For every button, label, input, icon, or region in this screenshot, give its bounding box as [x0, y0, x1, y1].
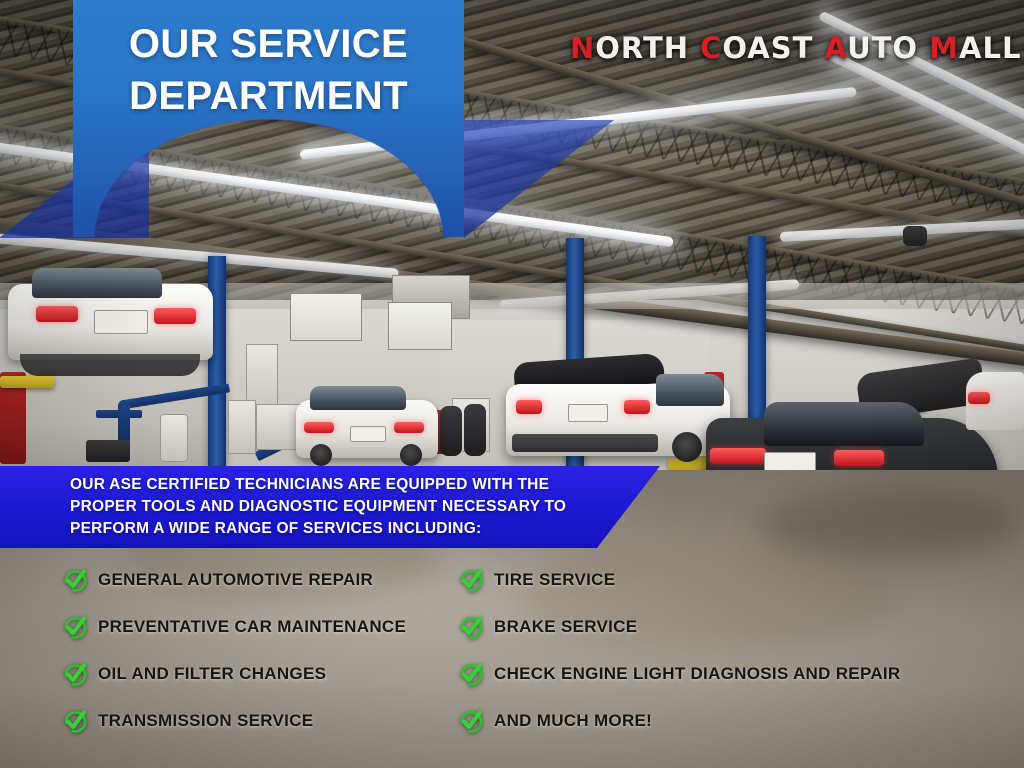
tire-stack	[440, 406, 462, 456]
check-icon	[62, 708, 88, 734]
banner-line2: PROPER TOOLS AND DIAGNOSTIC EQUIPMENT NE…	[70, 496, 630, 518]
service-label: AND MUCH MORE!	[494, 711, 652, 731]
rear-window	[32, 268, 162, 298]
tail-light	[154, 308, 196, 324]
tail-light	[710, 448, 766, 464]
vehicle-white-sedan-lifted	[8, 262, 218, 372]
list-item[interactable]: TRANSMISSION SERVICE	[62, 697, 462, 744]
tail-light	[624, 400, 650, 414]
page-title: OUR SERVICE DEPARTMENT	[73, 18, 464, 122]
service-label: BRAKE SERVICE	[494, 617, 637, 637]
list-item[interactable]: OIL AND FILTER CHANGES	[62, 650, 462, 697]
list-item[interactable]: PREVENTATIVE CAR MAINTENANCE	[62, 603, 462, 650]
check-icon	[458, 614, 484, 640]
service-list-left: GENERAL AUTOMOTIVE REPAIR PREVENTATIVE C…	[62, 556, 462, 744]
check-icon	[458, 661, 484, 687]
rear-window	[310, 386, 406, 410]
oil-drum	[160, 414, 188, 462]
tire	[310, 444, 332, 466]
vehicle-white-sedan-center	[296, 382, 442, 464]
vehicle-white-suv	[506, 358, 734, 470]
list-item[interactable]: CHECK ENGINE LIGHT DIAGNOSIS AND REPAIR	[458, 650, 998, 697]
check-icon	[458, 708, 484, 734]
service-label: CHECK ENGINE LIGHT DIAGNOSIS AND REPAIR	[494, 664, 901, 684]
tire	[672, 432, 702, 462]
tail-light	[394, 422, 424, 433]
page-title-line1: OUR SERVICE	[73, 18, 464, 70]
tail-light	[36, 306, 78, 322]
rear-bumper	[512, 434, 658, 452]
tire-stack	[464, 404, 486, 456]
tail-light	[834, 450, 884, 466]
ceiling-sign	[290, 293, 362, 341]
check-icon	[62, 567, 88, 593]
tail-light	[516, 400, 542, 414]
check-icon	[62, 661, 88, 687]
list-item[interactable]: TIRE SERVICE	[458, 556, 998, 603]
tool-cabinet	[228, 400, 256, 454]
service-label: GENERAL AUTOMOTIVE REPAIR	[98, 570, 373, 590]
check-icon	[458, 567, 484, 593]
tail-light	[968, 392, 990, 404]
brand-logo[interactable]: NORTH COAST AUTO MALL STOP OVER PAYING	[570, 28, 1024, 68]
brand-logo-text: NORTH COAST AUTO MALL	[570, 31, 1021, 65]
service-label: OIL AND FILTER CHANGES	[98, 664, 326, 684]
lift-ramp	[0, 376, 54, 388]
ceiling-sign	[388, 302, 452, 350]
under-body-shadow	[20, 354, 200, 376]
tire	[400, 444, 422, 466]
service-label: TIRE SERVICE	[494, 570, 615, 590]
page-title-line2: DEPARTMENT	[73, 70, 464, 122]
list-item[interactable]: AND MUCH MORE!	[458, 697, 998, 744]
license-plate	[568, 404, 608, 422]
rear-window	[764, 402, 924, 446]
license-plate	[94, 310, 148, 334]
service-label: PREVENTATIVE CAR MAINTENANCE	[98, 617, 406, 637]
list-item[interactable]: GENERAL AUTOMOTIVE REPAIR	[62, 556, 462, 603]
service-list-right: TIRE SERVICE BRAKE SERVICE CHECK ENGINE …	[458, 556, 998, 744]
banner-line3: PERFORM A WIDE RANGE OF SERVICES INCLUDI…	[70, 518, 630, 540]
description-banner-text: OUR ASE CERTIFIED TECHNICIANS ARE EQUIPP…	[70, 474, 630, 540]
header-panel: OUR SERVICE DEPARTMENT	[73, 0, 464, 237]
check-icon	[62, 614, 88, 640]
floor-jack	[86, 440, 130, 462]
list-item[interactable]: BRAKE SERVICE	[458, 603, 998, 650]
tail-light	[304, 422, 334, 433]
license-plate	[350, 426, 386, 442]
wall-speaker	[903, 226, 927, 246]
vehicle-white-partial-right	[966, 366, 1024, 436]
banner-line1: OUR ASE CERTIFIED TECHNICIANS ARE EQUIPP…	[70, 474, 630, 496]
poster-canvas: OUR SERVICE DEPARTMENT NORTH COAST AUTO …	[0, 0, 1024, 768]
service-label: TRANSMISSION SERVICE	[98, 711, 313, 731]
floor-stain	[760, 488, 1020, 558]
